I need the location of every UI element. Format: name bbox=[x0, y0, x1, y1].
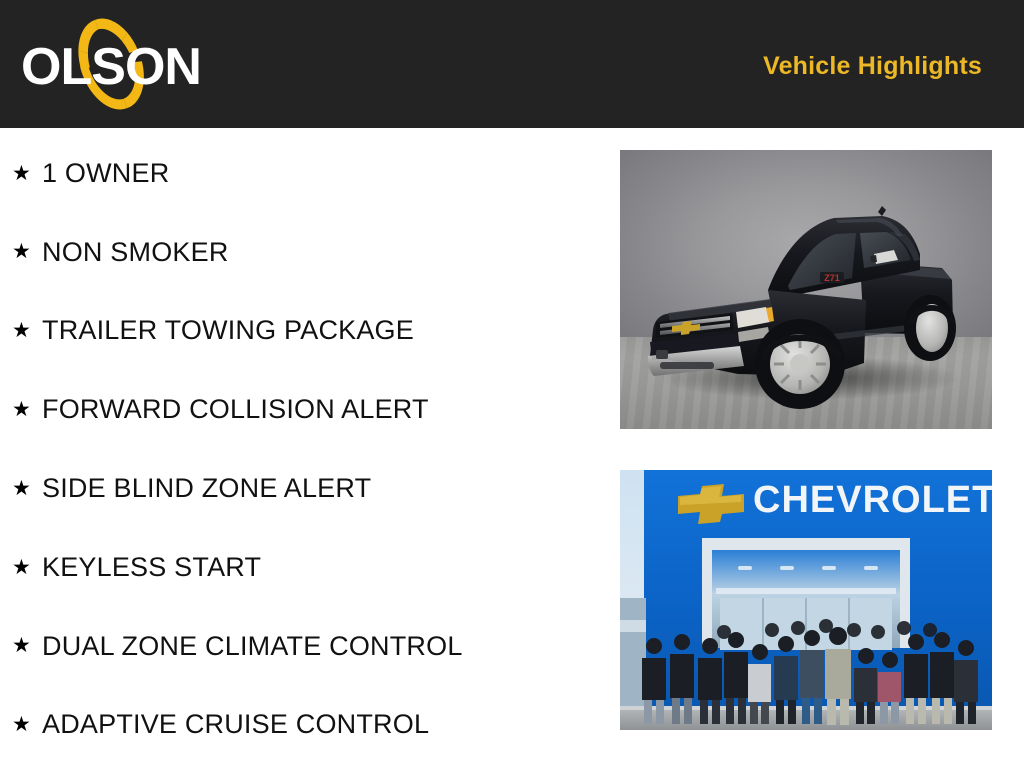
highlight-item: ★NON SMOKER bbox=[12, 235, 229, 269]
svg-text:Z71: Z71 bbox=[824, 273, 840, 283]
highlight-item-label: NON SMOKER bbox=[42, 238, 229, 266]
highlight-item: ★SIDE BLIND ZONE ALERT bbox=[12, 471, 371, 505]
highlight-item-label: 1 OWNER bbox=[42, 159, 169, 187]
page-header: OLSON Vehicle Highlights bbox=[0, 0, 1024, 128]
highlight-item-label: DUAL ZONE CLIMATE CONTROL bbox=[42, 632, 463, 660]
star-bullet-icon: ★ bbox=[12, 163, 42, 184]
olson-logo[interactable]: OLSON bbox=[16, 8, 206, 120]
highlight-item: ★1 OWNER bbox=[12, 156, 169, 190]
highlight-item: ★ADAPTIVE CRUISE CONTROL bbox=[12, 708, 429, 742]
dealership-illustration: CHEVROLET bbox=[620, 470, 992, 730]
svg-text:OLSON: OLSON bbox=[21, 38, 201, 96]
star-bullet-icon: ★ bbox=[12, 399, 42, 420]
dealership-photo[interactable]: CHEVROLET bbox=[620, 470, 992, 730]
highlight-item-label: TRAILER TOWING PACKAGE bbox=[42, 316, 414, 344]
highlight-item: ★FORWARD COLLISION ALERT bbox=[12, 392, 429, 426]
highlight-item-label: ADAPTIVE CRUISE CONTROL bbox=[42, 710, 429, 738]
highlight-item-label: SIDE BLIND ZONE ALERT bbox=[42, 474, 371, 502]
highlight-item: ★TRAILER TOWING PACKAGE bbox=[12, 314, 414, 348]
olson-logo-icon: OLSON bbox=[16, 8, 206, 120]
star-bullet-icon: ★ bbox=[12, 241, 42, 262]
svg-text:CHEVROLET: CHEVROLET bbox=[753, 479, 992, 521]
pickup-truck-illustration: Z71 bbox=[620, 150, 992, 429]
star-bullet-icon: ★ bbox=[12, 320, 42, 341]
star-bullet-icon: ★ bbox=[12, 557, 42, 578]
vehicle-highlights-list: ★1 OWNER★NON SMOKER★TRAILER TOWING PACKA… bbox=[0, 128, 600, 768]
star-bullet-icon: ★ bbox=[12, 478, 42, 499]
highlight-item: ★KEYLESS START bbox=[12, 550, 261, 584]
page-title: Vehicle Highlights bbox=[763, 52, 982, 81]
highlight-item-label: KEYLESS START bbox=[42, 553, 261, 581]
highlight-item: ★DUAL ZONE CLIMATE CONTROL bbox=[12, 629, 463, 663]
highlight-item-label: FORWARD COLLISION ALERT bbox=[42, 395, 429, 423]
star-bullet-icon: ★ bbox=[12, 635, 42, 656]
vehicle-photo[interactable]: Z71 bbox=[620, 150, 992, 429]
star-bullet-icon: ★ bbox=[12, 714, 42, 735]
